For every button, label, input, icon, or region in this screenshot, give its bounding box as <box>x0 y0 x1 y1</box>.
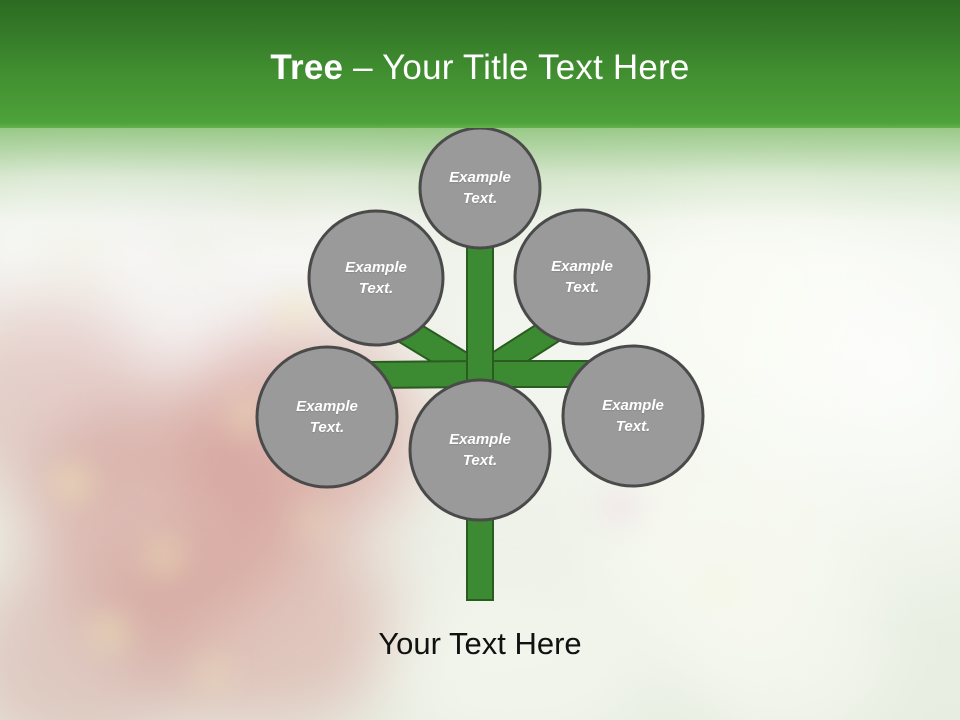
slide-canvas: Example Text.Example Text.Example Text.E… <box>0 0 960 720</box>
page-title: Tree – Your Title Text Here <box>0 48 960 88</box>
footer-caption: Your Text Here <box>0 624 960 664</box>
page-title-strong: Tree <box>270 48 343 87</box>
tree-node-mid-left[interactable] <box>309 211 443 345</box>
page-title-rest: – Your Title Text Here <box>343 48 689 87</box>
title-band: Tree – Your Title Text Here <box>0 0 960 128</box>
tree-node-top[interactable] <box>420 128 540 248</box>
tree-node-center[interactable] <box>410 380 550 520</box>
tree-node-mid-right[interactable] <box>515 210 649 344</box>
tree-node-lower-left[interactable] <box>257 347 397 487</box>
tree-node-lower-right[interactable] <box>563 346 703 486</box>
